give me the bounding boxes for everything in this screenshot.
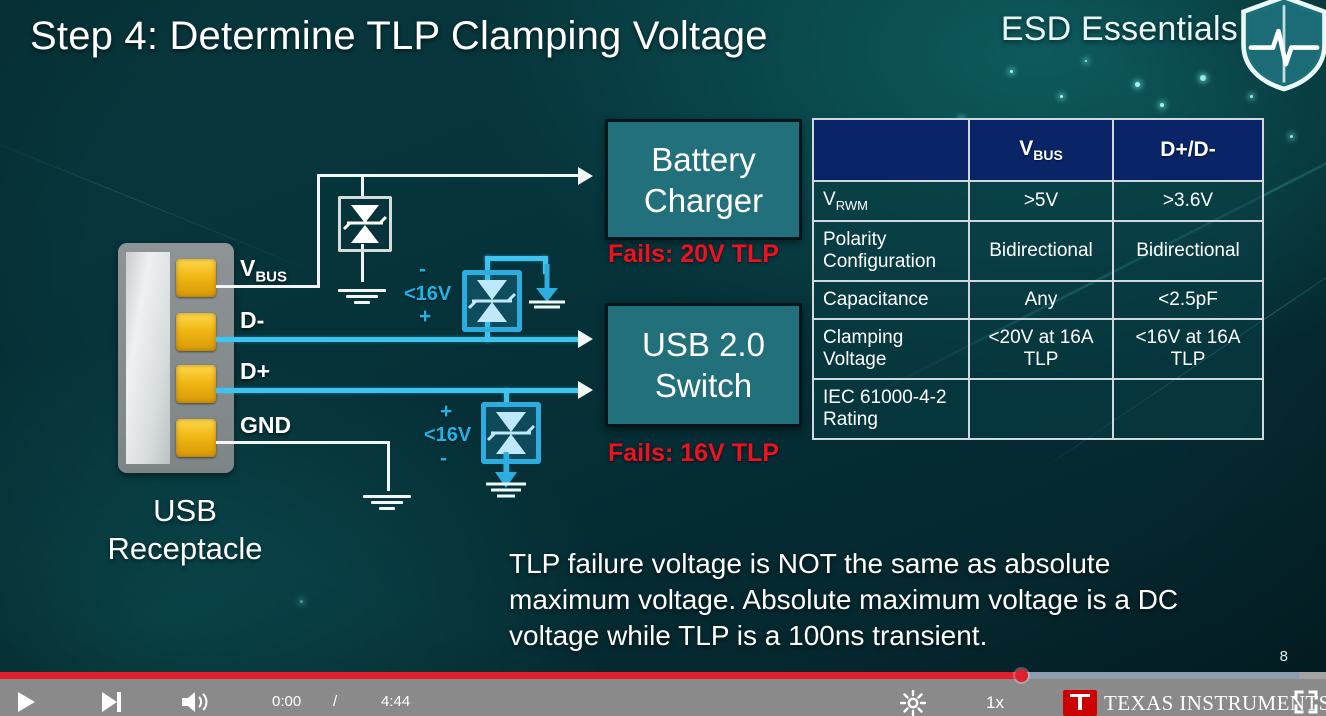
ground-symbol-2 — [363, 492, 411, 510]
usb-pin-dplus — [176, 365, 216, 403]
usb-pin-vbus — [176, 259, 216, 297]
block-usb-switch: USB 2.0 Switch — [605, 303, 802, 427]
arrow-dminus-to-switch — [578, 330, 593, 348]
video-progress-bar[interactable] — [0, 672, 1326, 679]
ground-arrow-data — [483, 452, 529, 500]
pin-label-dplus: D+ — [240, 358, 270, 385]
brand-title: ESD Essentials — [1001, 10, 1238, 49]
time-separator: / — [333, 693, 337, 710]
current-time-label: 0:00 — [272, 693, 301, 710]
row-header-clamping: Clamping Voltage — [813, 319, 969, 379]
tvs-vbus-minus-sign: - — [419, 258, 426, 282]
pin-label-vbus: VBUS — [240, 255, 287, 286]
cell-capacitance-vbus: Any — [969, 281, 1113, 319]
tvs-vbus-plus-sign: + — [419, 305, 431, 329]
next-track-icon[interactable] — [99, 690, 123, 714]
fail-note-battery-charger: Fails: 20V TLP — [608, 240, 779, 269]
playback-speed-label[interactable]: 1x — [986, 693, 1004, 713]
tvs-diode-symbol-vbus — [462, 270, 522, 332]
table-row-iec: IEC 61000-4-2 Rating — [813, 379, 1263, 439]
usb-receptacle-connector — [118, 243, 234, 473]
settings-gear-icon[interactable] — [900, 690, 926, 716]
block-usb-switch-line2: Switch — [642, 365, 765, 406]
table-row-vrwm: VRWM >5V >3.6V — [813, 181, 1263, 221]
shield-heartbeat-icon — [1238, 0, 1326, 92]
tvs-data-minus-sign: - — [440, 447, 447, 471]
cell-clamping-vbus: <20V at 16A TLP — [969, 319, 1113, 379]
slide-canvas: Step 4: Determine TLP Clamping Voltage E… — [0, 0, 1326, 672]
usb-pin-gnd — [176, 419, 216, 457]
tvs-data-value: <16V — [424, 424, 471, 447]
fullscreen-icon[interactable] — [1294, 690, 1318, 714]
block-battery-charger-line1: Battery — [644, 139, 763, 180]
arrow-dplus-to-switch — [578, 381, 593, 399]
cell-clamping-data: <16V at 16A TLP — [1113, 319, 1263, 379]
progress-scrubber-handle[interactable] — [1015, 669, 1028, 682]
table-row-capacitance: Capacitance Any <2.5pF — [813, 281, 1263, 319]
tvs-data-plus-sign: + — [440, 400, 452, 424]
cell-polarity-data: Bidirectional — [1113, 221, 1263, 281]
duration-label: 4:44 — [381, 693, 410, 710]
ground-arrow-vbus — [524, 262, 570, 310]
progress-played — [0, 672, 1021, 679]
usb-pin-dminus — [176, 313, 216, 351]
usb-receptacle-caption: USB Receptacle — [100, 492, 270, 568]
row-header-vrwm: VRWM — [813, 181, 969, 221]
pin-label-dminus: D- — [240, 307, 264, 334]
table-header-row: VBUS D+/D- — [813, 119, 1263, 181]
cell-vrwm-vbus: >5V — [969, 181, 1113, 221]
specification-table: VBUS D+/D- VRWM >5V >3.6V Polarity Confi… — [812, 118, 1264, 440]
texas-instruments-logo: TEXAS INSTRUMENTS — [1063, 690, 1326, 716]
cell-capacitance-data: <2.5pF — [1113, 281, 1263, 319]
pin-label-gnd: GND — [240, 412, 291, 439]
block-usb-switch-line1: USB 2.0 — [642, 324, 765, 365]
cell-iec-data — [1113, 379, 1263, 439]
row-header-capacitance: Capacitance — [813, 281, 969, 319]
cell-iec-vbus — [969, 379, 1113, 439]
tvs-vbus-value: <16V — [404, 283, 451, 306]
cell-polarity-vbus: Bidirectional — [969, 221, 1113, 281]
ground-symbol-1 — [338, 286, 386, 304]
explanatory-paragraph: TLP failure voltage is NOT the same as a… — [509, 546, 1209, 654]
table-header-vbus: VBUS — [969, 119, 1113, 181]
ti-brand-text: TEXAS INSTRUMENTS — [1104, 691, 1326, 716]
table-header-data: D+/D- — [1113, 119, 1263, 181]
arrow-to-battery-charger — [578, 167, 593, 185]
tvs-diode-symbol-white — [338, 196, 392, 252]
play-icon[interactable] — [14, 690, 38, 714]
page-title: Step 4: Determine TLP Clamping Voltage — [30, 14, 768, 59]
cell-vrwm-data: >3.6V — [1113, 181, 1263, 221]
fail-note-usb-switch: Fails: 16V TLP — [608, 439, 779, 468]
row-header-polarity: Polarity Configuration — [813, 221, 969, 281]
table-header-blank — [813, 119, 969, 181]
volume-icon[interactable] — [180, 690, 208, 714]
row-header-iec: IEC 61000-4-2 Rating — [813, 379, 969, 439]
table-row-clamping: Clamping Voltage <20V at 16A TLP <16V at… — [813, 319, 1263, 379]
block-battery-charger: Battery Charger — [605, 119, 802, 240]
ti-mark-icon — [1063, 690, 1097, 716]
slide-page-number: 8 — [1280, 648, 1288, 665]
block-battery-charger-line2: Charger — [644, 180, 763, 221]
table-row-polarity: Polarity Configuration Bidirectional Bid… — [813, 221, 1263, 281]
video-player-stage: Step 4: Determine TLP Clamping Voltage E… — [0, 0, 1326, 716]
